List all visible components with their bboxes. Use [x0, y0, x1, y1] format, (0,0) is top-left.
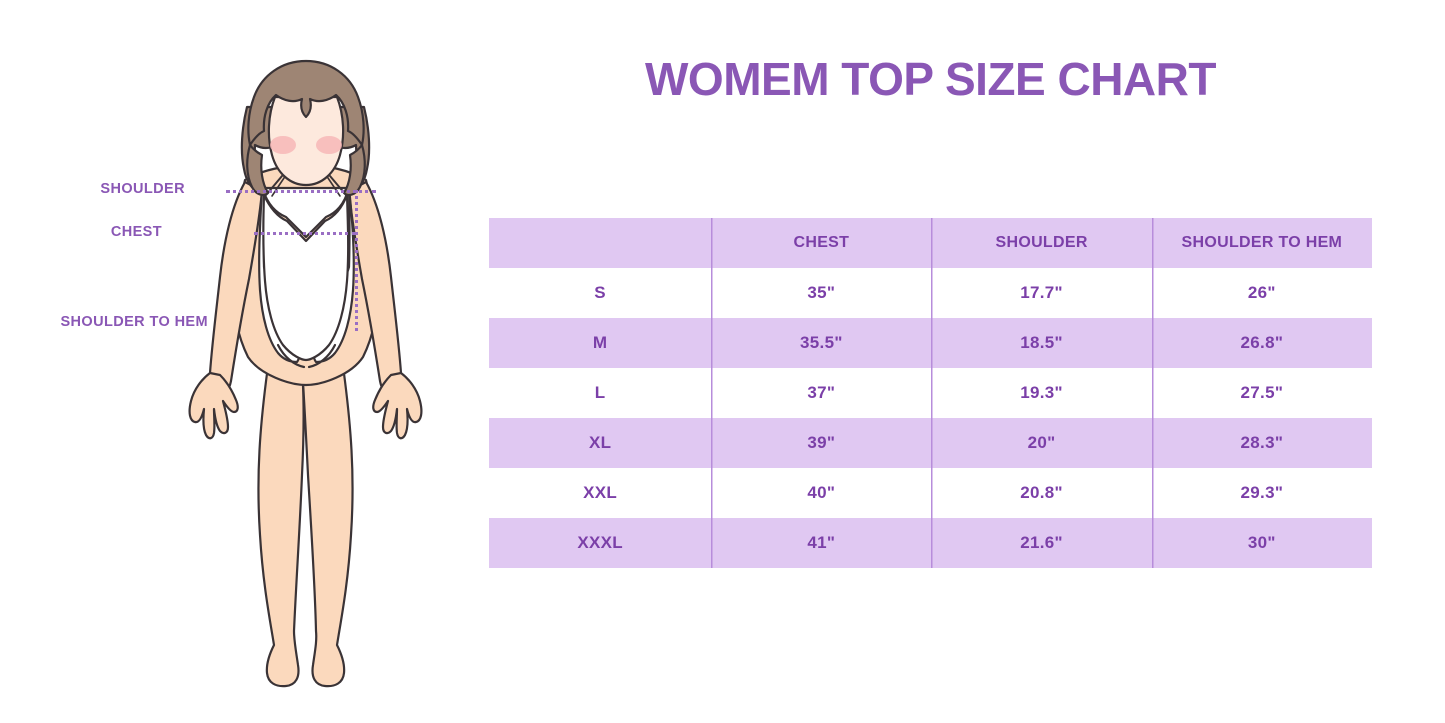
size-chart-page: WOMEM TOP SIZE CHART SHOULDER CHEST SHOU… — [0, 0, 1445, 723]
table-row: XXL 40" 20.8" 29.3" — [489, 468, 1372, 518]
table-header-row: CHEST SHOULDER SHOULDER TO HEM — [489, 218, 1372, 268]
cell-shoulder-to-hem: 29.3" — [1152, 468, 1372, 518]
table-row: L 37" 19.3" 27.5" — [489, 368, 1372, 418]
cell-chest: 39" — [711, 418, 931, 468]
cell-shoulder: 17.7" — [931, 268, 1151, 318]
header-shoulder-to-hem: SHOULDER TO HEM — [1152, 218, 1372, 268]
cell-size: L — [489, 368, 711, 418]
shoulder-measure-guide — [226, 190, 376, 193]
female-body-illustration — [150, 45, 450, 690]
measurement-label-chest: CHEST — [0, 224, 162, 240]
cell-shoulder: 18.5" — [931, 318, 1151, 368]
cell-chest: 40" — [711, 468, 931, 518]
header-chest: CHEST — [711, 218, 931, 268]
table-row: XXXL 41" 21.6" 30" — [489, 518, 1372, 568]
shoulder-to-hem-measure-guide — [355, 190, 358, 331]
cell-shoulder: 20" — [931, 418, 1151, 468]
table-row: M 35.5" 18.5" 26.8" — [489, 318, 1372, 368]
table-row: S 35" 17.7" 26" — [489, 268, 1372, 318]
cell-shoulder-to-hem: 28.3" — [1152, 418, 1372, 468]
cell-chest: 37" — [711, 368, 931, 418]
chest-measure-guide — [254, 232, 356, 235]
header-size — [489, 218, 711, 268]
cell-size: S — [489, 268, 711, 318]
cell-size: XL — [489, 418, 711, 468]
cell-chest: 41" — [711, 518, 931, 568]
cell-size: XXXL — [489, 518, 711, 568]
cell-chest: 35.5" — [711, 318, 931, 368]
cell-shoulder: 21.6" — [931, 518, 1151, 568]
page-title: WOMEM TOP SIZE CHART — [489, 52, 1372, 106]
size-chart-table: CHEST SHOULDER SHOULDER TO HEM S 35" 17.… — [489, 218, 1372, 568]
cell-size: M — [489, 318, 711, 368]
cell-shoulder-to-hem: 30" — [1152, 518, 1372, 568]
cell-shoulder: 19.3" — [931, 368, 1151, 418]
table-row: XL 39" 20" 28.3" — [489, 418, 1372, 468]
cell-chest: 35" — [711, 268, 931, 318]
cell-shoulder-to-hem: 26.8" — [1152, 318, 1372, 368]
cell-shoulder-to-hem: 27.5" — [1152, 368, 1372, 418]
cell-shoulder-to-hem: 26" — [1152, 268, 1372, 318]
cell-size: XXL — [489, 468, 711, 518]
cell-shoulder: 20.8" — [931, 468, 1151, 518]
header-shoulder: SHOULDER — [931, 218, 1151, 268]
